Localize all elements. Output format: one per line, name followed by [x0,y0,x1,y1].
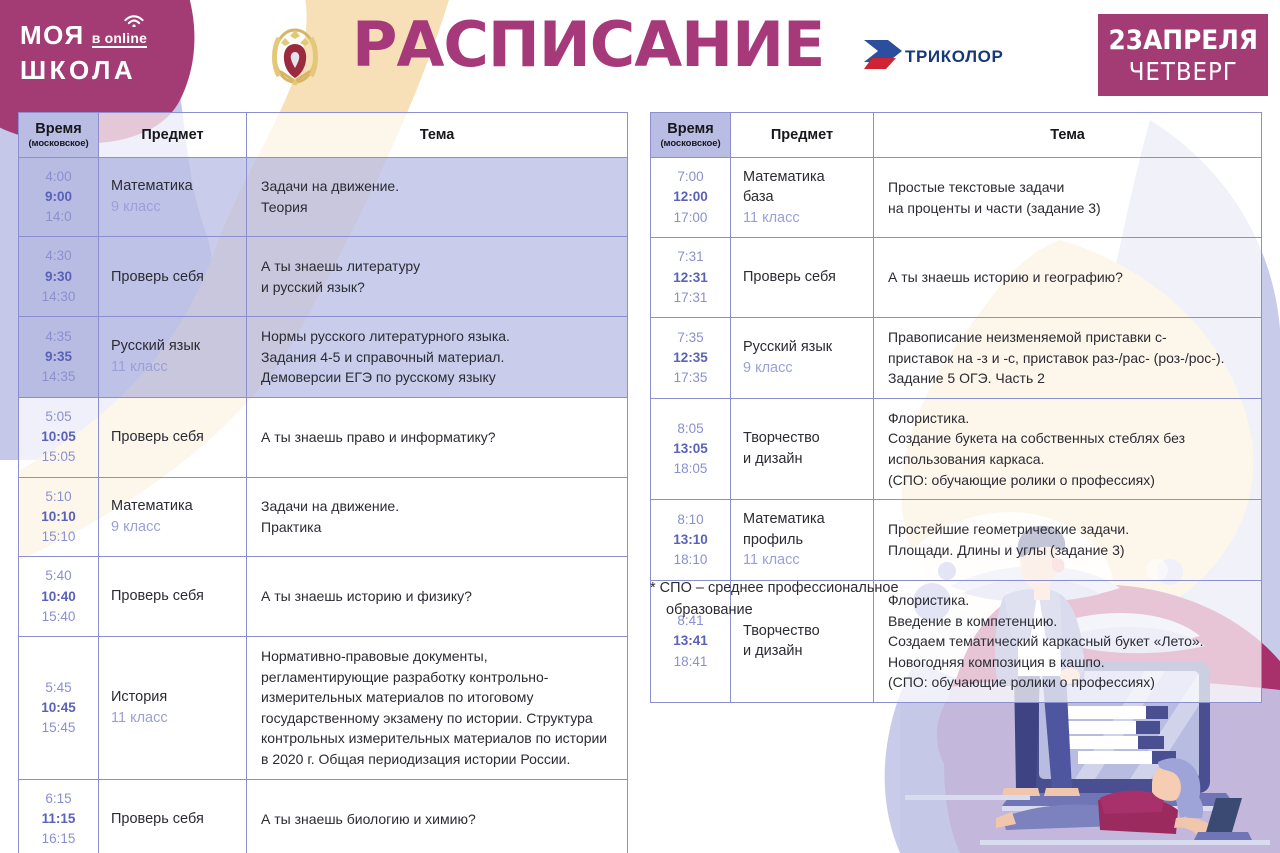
table-row: 8:0513:0518:05Творчествои дизайнФлористи… [651,398,1262,499]
table-row: 6:1511:1516:15Проверь себяА ты знаешь би… [19,779,628,853]
subject-grade: 9 класс [743,358,861,379]
topic-line: Демоверсии ЕГЭ по русскому языку [261,367,613,388]
time-zone: 15:05 [23,447,94,467]
cell-topic: Нормы русского литературного языка.Задан… [247,317,628,398]
column-header-topic: Тема [874,113,1262,158]
time-zone: 17:00 [655,208,726,228]
subject-line: Математика [743,167,861,188]
topic-line: А ты знаешь историю и физику? [261,586,613,607]
time-zone: 4:00 [23,167,94,187]
poster-header: МОЯ в online ШКОЛА [0,0,1280,110]
column-header-time-label: Время [655,121,726,138]
subject-line: Русский язык [743,337,861,358]
subject-line: Русский язык [111,336,234,357]
table-row: 5:4010:4015:40Проверь себяА ты знаешь ис… [19,557,628,637]
schedule-table-left: Время (московское) Предмет Тема 4:009:00… [18,112,628,853]
cell-time: 4:359:3514:35 [19,317,99,398]
topic-line: в 2020 г. Общая периодизация истории Рос… [261,749,613,770]
table-row: 7:3112:3117:31Проверь себяА ты знаешь ис… [651,238,1262,318]
time-zone: 18:41 [655,652,726,672]
date-weekday: ЧЕТВЕРГ [1128,59,1237,84]
topic-line: А ты знаешь литературу [261,256,613,277]
column-header-topic-label: Тема [878,127,1257,144]
time-zone: 7:31 [655,247,726,267]
time-moscow: 9:35 [23,347,94,367]
topic-line: Задания 4-5 и справочный материал. [261,347,613,368]
cell-subject: Математика9 класс [99,157,247,237]
footnote-line-1: * СПО – среднее профессиональное [650,580,899,596]
topic-line: Правописание неизменяемой приставки с- [888,327,1247,348]
topic-line: Теория [261,197,613,218]
topic-line: А ты знаешь биологию и химию? [261,809,613,830]
brand-line1: МОЯ [20,22,85,48]
russian-coat-of-arms-icon [269,26,321,86]
table-row: 4:009:0014:0Математика9 классЗадачи на д… [19,157,628,237]
subject-line: История [111,687,234,708]
cell-time: 8:1013:1018:10 [651,500,731,581]
footnote: * СПО – среднее профессиональное образов… [650,578,980,622]
time-zone: 14:35 [23,367,94,387]
time-zone: 6:15 [23,789,94,809]
topic-line: Площади. Длины и углы (задание 3) [888,540,1247,561]
topic-line: Задачи на движение. [261,176,613,197]
cell-topic: Задачи на движение.Практика [247,477,628,557]
subject-line: и дизайн [743,449,861,470]
cell-time: 5:0510:0515:05 [19,397,99,477]
topic-line: регламентирующие разработку контрольно- [261,667,613,688]
time-zone: 17:31 [655,288,726,308]
time-moscow: 12:31 [655,268,726,288]
subject-line: Проверь себя [743,267,861,288]
poster-root: МОЯ в online ШКОЛА [0,0,1280,853]
cell-subject: Проверь себя [99,237,247,317]
subject-grade: 11 класс [743,208,861,229]
subject-line: и дизайн [743,641,861,662]
time-zone: 8:10 [655,510,726,530]
cell-topic: А ты знаешь литературуи русский язык? [247,237,628,317]
table-row: 5:0510:0515:05Проверь себяА ты знаешь пр… [19,397,628,477]
cell-subject: История11 класс [99,637,247,779]
time-moscow: 12:00 [655,187,726,207]
cell-topic: Флористика.Создание букета на собственны… [874,398,1262,499]
cell-topic: А ты знаешь биологию и химию? [247,779,628,853]
topic-line: Новогодняя композиция в кашпо. [888,652,1247,673]
time-zone: 4:30 [23,246,94,266]
topic-line: Создание букета на собственных стеблях б… [888,428,1247,449]
cell-topic: А ты знаешь историю и географию? [874,238,1262,318]
time-zone: 7:35 [655,328,726,348]
cell-topic: Задачи на движение.Теория [247,157,628,237]
time-zone: 4:35 [23,327,94,347]
time-zone: 15:10 [23,527,94,547]
time-moscow: 13:10 [655,530,726,550]
table-row: 7:3512:3517:35Русский язык9 классПравопи… [651,318,1262,399]
time-zone: 18:10 [655,550,726,570]
column-header-topic: Тема [247,113,628,158]
column-header-time: Время (московское) [19,113,99,158]
topic-line: использования каркаса. [888,449,1247,470]
subject-grade: 9 класс [111,517,234,538]
cell-topic: Простые текстовые задачина проценты и ча… [874,157,1262,238]
time-zone: 16:15 [23,829,94,849]
topic-line: А ты знаешь право и информатику? [261,427,613,448]
cell-time: 5:4010:4015:40 [19,557,99,637]
time-zone: 5:45 [23,678,94,698]
subject-line: Проверь себя [111,427,234,448]
footnote-line-2: образование [650,600,980,622]
topic-line: и русский язык? [261,277,613,298]
topic-line: Флористика. [888,408,1247,429]
cell-topic: Простейшие геометрические задачи.Площади… [874,500,1262,581]
cell-time: 7:3112:3117:31 [651,238,731,318]
topic-line: (СПО: обучающие ролики о профессиях) [888,672,1247,693]
date-day: 23АПРЕЛЯ [1108,27,1258,54]
time-moscow: 13:05 [655,439,726,459]
wifi-icon [123,15,145,27]
cell-time: 5:4510:4515:45 [19,637,99,779]
time-zone: 18:05 [655,459,726,479]
subject-grade: 11 класс [743,550,861,571]
time-zone: 14:30 [23,287,94,307]
cell-subject: Русский язык9 класс [731,318,874,399]
schedule-table: Время (московское) Предмет Тема 4:009:00… [18,112,628,853]
cell-time: 7:3512:3517:35 [651,318,731,399]
column-header-time-sub: (московское) [23,138,94,149]
time-zone: 5:05 [23,407,94,427]
cell-time: 8:0513:0518:05 [651,398,731,499]
brand-logo: МОЯ в online ШКОЛА [20,22,147,83]
cell-time: 7:0012:0017:00 [651,157,731,238]
subject-grade: 9 класс [111,197,234,218]
brand-line2: ШКОЛА [20,57,147,83]
time-zone: 5:40 [23,566,94,586]
topic-line: Нормы русского литературного языка. [261,326,613,347]
column-header-subject: Предмет [731,113,874,158]
time-moscow: 13:41 [655,631,726,651]
topic-line: контрольных измерительных материалов по … [261,728,613,749]
cell-time: 6:1511:1516:15 [19,779,99,853]
cell-topic: А ты знаешь право и информатику? [247,397,628,477]
table-header-row: Время (московское) Предмет Тема [19,113,628,158]
cell-subject: Проверь себя [99,557,247,637]
cell-topic: Правописание неизменяемой приставки с-пр… [874,318,1262,399]
time-moscow: 12:35 [655,348,726,368]
column-header-subject: Предмет [99,113,247,158]
topic-line: Простые текстовые задачи [888,177,1247,198]
time-moscow: 10:40 [23,587,94,607]
cell-time: 4:009:0014:0 [19,157,99,237]
cell-time: 4:309:3014:30 [19,237,99,317]
schedule-body-left: 4:009:0014:0Математика9 классЗадачи на д… [19,157,628,853]
time-moscow: 9:30 [23,267,94,287]
topic-line: Задание 5 ОГЭ. Часть 2 [888,368,1247,389]
cell-subject: Проверь себя [731,238,874,318]
time-moscow: 10:10 [23,507,94,527]
topic-line: приставок на -з и -с, приставок раз-/рас… [888,348,1247,369]
time-zone: 7:00 [655,167,726,187]
column-header-subject-label: Предмет [103,127,242,144]
table-header-row: Время (московское) Предмет Тема [651,113,1262,158]
cell-time: 5:1010:1015:10 [19,477,99,557]
column-header-subject-label: Предмет [735,127,869,144]
table-row: 5:1010:1015:10Математика9 классЗадачи на… [19,477,628,557]
time-moscow: 11:15 [23,809,94,829]
subject-line: Математика [743,509,861,530]
topic-line: Нормативно-правовые документы, [261,646,613,667]
page-title: РАСПИСАНИЕ [352,14,824,76]
cell-subject: Математикапрофиль11 класс [731,500,874,581]
subject-line: база [743,187,861,208]
topic-line: Создаем тематический каркасный букет «Ле… [888,631,1247,652]
column-header-topic-label: Тема [251,127,623,144]
table-row: 8:1013:1018:10Математикапрофиль11 классП… [651,500,1262,581]
topic-line: государственному экзамену по истории. Ст… [261,708,613,729]
topic-line: А ты знаешь историю и географию? [888,267,1247,288]
subject-line: Творчество [743,621,861,642]
table-row: 7:0012:0017:00Математикабаза11 классПрос… [651,157,1262,238]
cell-topic: Нормативно-правовые документы,регламенти… [247,637,628,779]
cell-subject: Проверь себя [99,779,247,853]
subject-line: Математика [111,176,234,197]
cell-subject: Проверь себя [99,397,247,477]
subject-line: Проверь себя [111,809,234,830]
subject-grade: 11 класс [111,357,234,378]
table-row: 4:309:3014:30Проверь себяА ты знаешь лит… [19,237,628,317]
topic-line: Задачи на движение. [261,496,613,517]
time-zone: 14:0 [23,207,94,227]
time-moscow: 9:00 [23,187,94,207]
column-header-time: Время (московское) [651,113,731,158]
time-moscow: 10:45 [23,698,94,718]
subject-line: Математика [111,496,234,517]
topic-line: Простейшие геометрические задачи. [888,519,1247,540]
cell-subject: Математика9 класс [99,477,247,557]
table-row: 5:4510:4515:45История11 классНормативно-… [19,637,628,779]
date-badge: 23АПРЕЛЯ ЧЕТВЕРГ [1098,14,1268,96]
cell-subject: Творчествои дизайн [731,398,874,499]
subject-line: Проверь себя [111,267,234,288]
partner-logo-label: ТРИКОЛОР [905,47,1003,67]
cell-subject: Русский язык11 класс [99,317,247,398]
topic-line: (СПО: обучающие ролики о профессиях) [888,470,1247,491]
column-header-time-sub: (московское) [655,138,726,149]
topic-line: Практика [261,517,613,538]
time-zone: 5:10 [23,487,94,507]
time-zone: 17:35 [655,368,726,388]
cell-topic: А ты знаешь историю и физику? [247,557,628,637]
topic-line: измерительных материалов по итоговому [261,687,613,708]
time-zone: 8:05 [655,419,726,439]
subject-line: Творчество [743,428,861,449]
time-zone: 15:45 [23,718,94,738]
time-moscow: 10:05 [23,427,94,447]
topic-line: на проценты и части (задание 3) [888,198,1247,219]
table-row: 4:359:3514:35Русский язык11 классНормы р… [19,317,628,398]
cell-subject: Математикабаза11 класс [731,157,874,238]
column-header-time-label: Время [23,121,94,138]
subject-line: Проверь себя [111,586,234,607]
time-zone: 15:40 [23,607,94,627]
subject-grade: 11 класс [111,708,234,729]
subject-line: профиль [743,530,861,551]
brand-online-label: в online [92,31,147,48]
